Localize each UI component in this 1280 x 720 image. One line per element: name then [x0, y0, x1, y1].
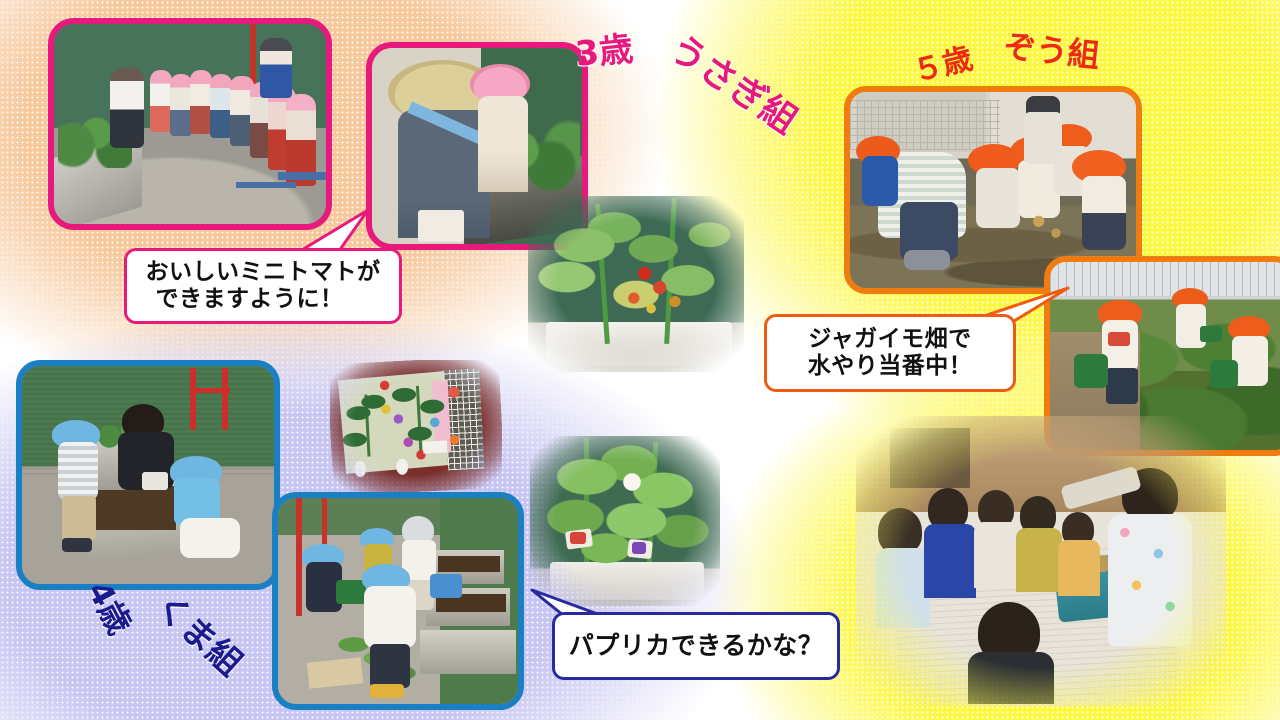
speech-bubble-potato-watering-line1: ジャガイモ畑で	[808, 326, 973, 353]
photo-paprika-plant-image	[530, 436, 720, 606]
class-label-kuma-age: 4歳	[78, 572, 144, 642]
photo-usagi-group-talk	[48, 18, 332, 230]
speech-bubble-mini-tomato: おいしいミニトマトが できますように！	[124, 248, 402, 324]
photo-kuma-soil-prep-image	[22, 366, 274, 584]
speech-bubble-mini-tomato-line2: できますように！	[146, 286, 381, 313]
photo-kuma-watering-image	[278, 498, 518, 704]
photo-kuma-watering	[272, 492, 524, 710]
photo-usagi-group-talk-image	[54, 24, 326, 224]
photo-mini-tomato-plant	[528, 196, 744, 372]
speech-bubble-mini-tomato-line1: おいしいミニトマトが	[146, 259, 381, 286]
photo-zou-indoor-harvest-image	[856, 416, 1226, 706]
photo-kuma-soil-prep	[16, 360, 280, 590]
class-label-usagi: 3歳 うさぎ組	[575, 22, 815, 142]
photo-zou-indoor-harvest	[856, 416, 1226, 706]
class-label-usagi-name: うさぎ組	[661, 20, 809, 144]
class-label-kuma: 4歳 くま組	[78, 580, 298, 690]
poster-canvas: 3歳 うさぎ組 ５歳 ぞう組 4歳 くま組 おいしいミニトマトが できますように…	[0, 0, 1280, 720]
speech-bubble-paprika-line1: パプリカできるかな？	[569, 631, 824, 661]
class-label-zou: ５歳 ぞう組	[900, 24, 1150, 94]
speech-bubble-potato-watering: ジャガイモ畑で 水やり当番中！	[764, 314, 1016, 392]
photo-paprika-plant	[530, 436, 720, 606]
speech-bubble-potato-watering-line2: 水やり当番中！	[808, 353, 973, 380]
speech-bubble-paprika: パプリカできるかな？	[552, 612, 840, 680]
class-label-zou-age: ５歳	[908, 33, 977, 90]
photo-mini-tomato-plant-image	[528, 196, 744, 372]
class-label-kuma-name: くま組	[147, 580, 256, 685]
class-label-usagi-age: 3歳	[573, 21, 635, 76]
photo-kuma-artwork	[330, 360, 502, 492]
class-label-zou-name: ぞう組	[1002, 21, 1102, 77]
photo-kuma-artwork-image	[330, 360, 502, 492]
